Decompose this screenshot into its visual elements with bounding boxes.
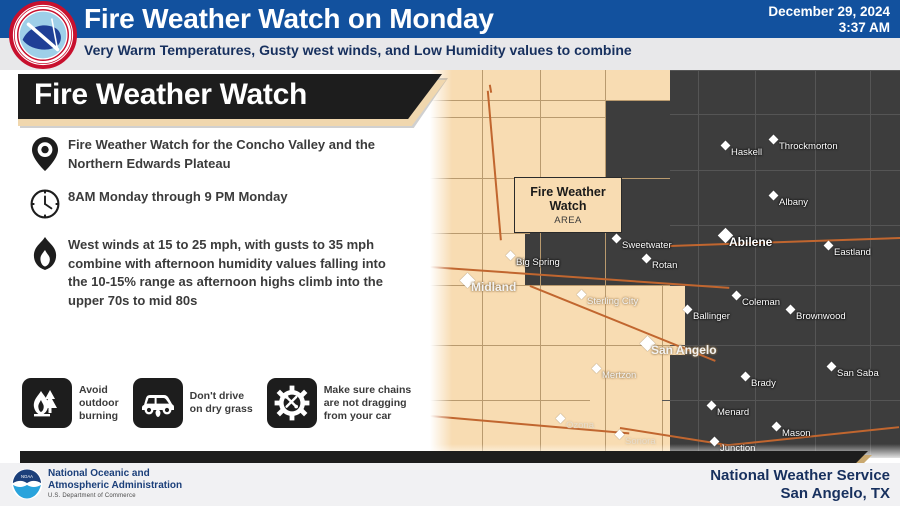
city-dot-icon xyxy=(772,422,782,432)
city-label: Eastland xyxy=(834,247,871,258)
callout-line1: Fire Weather xyxy=(530,185,606,199)
tip-avoid-burning: Avoidoutdoorburning xyxy=(22,378,119,428)
noaa-line2: Atmospheric Administration xyxy=(48,480,182,492)
tip-dry-grass: Don't driveon dry grass xyxy=(133,378,253,428)
noaa-logo-icon: NOAA xyxy=(10,467,44,501)
callout-line3: AREA xyxy=(554,215,581,226)
city-label: Albany xyxy=(779,197,808,208)
page-subtitle: Very Warm Temperatures, Gusty west winds… xyxy=(84,42,632,58)
city-label: Mertzon xyxy=(602,370,636,381)
banner-title: Fire Weather Watch xyxy=(34,78,307,112)
city-label: Sterling City xyxy=(587,296,638,307)
city-dot-icon xyxy=(721,141,731,151)
watch-banner: Fire Weather Watch xyxy=(18,74,448,126)
city-label: San Angelo xyxy=(651,343,717,357)
tip-avoid-burning-text: Avoidoutdoorburning xyxy=(79,384,119,423)
city-label: Big Spring xyxy=(516,257,560,268)
city-label: Ballinger xyxy=(693,311,730,322)
bullet-location-text: Fire Weather Watch for the Concho Valley… xyxy=(68,135,432,173)
city-label: Midland xyxy=(471,280,516,294)
bullet-timing: 8AM Monday through 9 PM Monday xyxy=(22,187,432,219)
callout-line2: Watch xyxy=(549,199,586,213)
city-label: Brady xyxy=(751,378,776,389)
office-line2: San Angelo, TX xyxy=(710,485,890,503)
city-dot-icon xyxy=(769,191,779,201)
city-dot-icon xyxy=(769,135,779,145)
gear-wrench-icon xyxy=(267,378,317,428)
watch-area-north2 xyxy=(430,70,630,100)
bullet-list: Fire Weather Watch for the Concho Valley… xyxy=(22,135,432,320)
city-dot-icon xyxy=(786,305,796,315)
city-label: Menard xyxy=(717,407,749,418)
office-name: National Weather Service San Angelo, TX xyxy=(710,467,890,503)
tip-dry-grass-text: Don't driveon dry grass xyxy=(190,390,253,416)
map-pin-icon xyxy=(22,135,68,171)
city-label: Coleman xyxy=(742,297,780,308)
office-line1: National Weather Service xyxy=(710,467,890,485)
forecast-map[interactable]: Fire Weather Watch AREA HaskellThrockmor… xyxy=(430,70,900,458)
bottom-bar xyxy=(20,451,868,463)
city-dot-icon xyxy=(707,401,717,411)
noaa-line1: National Oceanic and xyxy=(48,468,182,480)
city-label: Brownwood xyxy=(796,311,846,322)
bullet-timing-text: 8AM Monday through 9 PM Monday xyxy=(68,187,288,207)
noaa-line3: U.S. Department of Commerce xyxy=(48,493,136,499)
svg-text:NOAA: NOAA xyxy=(21,474,33,479)
clock-icon xyxy=(22,187,68,219)
nonwatch-notch-ne xyxy=(605,100,670,180)
city-label: San Saba xyxy=(837,368,879,379)
tip-chains-text: Make sure chainsare not draggingfrom you… xyxy=(324,384,412,423)
city-label: Sweetwater xyxy=(622,240,672,251)
safety-tips: Avoidoutdoorburning Don't driveon dry gr… xyxy=(22,378,442,428)
flame-icon xyxy=(22,235,68,271)
nws-seal-icon xyxy=(8,1,78,69)
city-dot-icon xyxy=(741,372,751,382)
bullet-conditions-text: West winds at 15 to 25 mph, with gusts t… xyxy=(68,235,408,310)
city-label: Haskell xyxy=(731,147,762,158)
header-time: 3:37 AM xyxy=(768,20,890,36)
header-date: December 29, 2024 xyxy=(768,4,890,20)
campfire-tree-icon xyxy=(22,378,72,428)
city-label: Ozona xyxy=(566,420,594,431)
city-dot-icon xyxy=(732,291,742,301)
bullet-location: Fire Weather Watch for the Concho Valley… xyxy=(22,135,432,173)
watch-area-callout: Fire Weather Watch AREA xyxy=(514,177,622,233)
city-label: Mason xyxy=(782,428,811,439)
footer: NOAA National Oceanic and Atmospheric Ad… xyxy=(0,463,900,506)
city-label: Rotan xyxy=(652,260,677,271)
weather-graphic: Fire Weather Watch on Monday December 29… xyxy=(0,0,900,506)
city-label: Abilene xyxy=(729,235,772,249)
city-label: Throckmorton xyxy=(779,141,838,152)
header-datetime: December 29, 2024 3:37 AM xyxy=(768,4,890,36)
city-dot-icon xyxy=(824,241,834,251)
bullet-conditions: West winds at 15 to 25 mph, with gusts t… xyxy=(22,235,432,310)
tip-chains: Make sure chainsare not draggingfrom you… xyxy=(267,378,412,428)
page-title: Fire Weather Watch on Monday xyxy=(84,3,494,35)
noaa-name: National Oceanic and Atmospheric Adminis… xyxy=(48,468,182,492)
car-icon xyxy=(133,378,183,428)
city-dot-icon xyxy=(827,362,837,372)
